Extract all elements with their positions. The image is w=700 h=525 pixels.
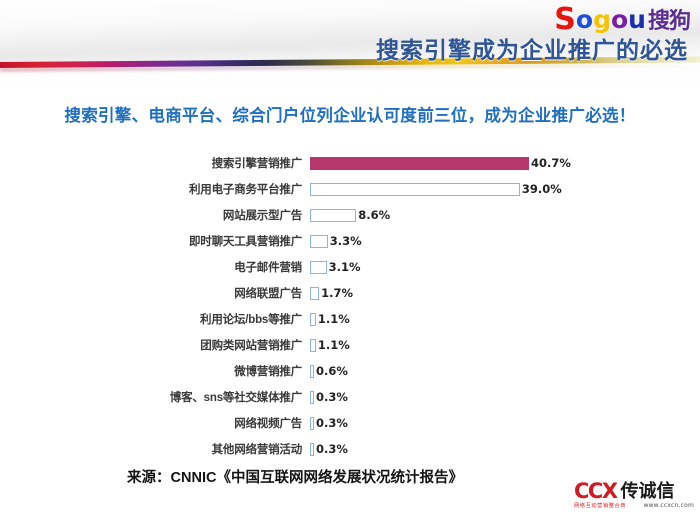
page-title: 搜索引擎成为企业推广的必选 bbox=[376, 31, 688, 65]
chart-category-label: 博客、sns等社交媒体推广 bbox=[0, 389, 310, 405]
ccx-logo-chinese: 传诚信 bbox=[621, 481, 675, 501]
ccx-logo-sub: 网络互动营销整合商 www.ccxcn.com bbox=[574, 502, 694, 509]
chart-value-label: 0.6% bbox=[316, 364, 348, 378]
chart-category-label: 网站展示型广告 bbox=[0, 207, 310, 223]
chart-row: 网络联盟广告1.7% bbox=[0, 280, 700, 306]
chart-bar-wrap: 0.3% bbox=[310, 410, 700, 436]
chart-value-label: 0.3% bbox=[316, 416, 348, 430]
chart-category-label: 网络联盟广告 bbox=[0, 285, 310, 301]
chart-bar-wrap: 3.1% bbox=[310, 254, 700, 280]
chart-value-label: 1.1% bbox=[318, 338, 350, 352]
chart-bar bbox=[310, 443, 314, 456]
sogou-letter-o2: o bbox=[611, 7, 628, 32]
ccx-logo: CCX 传诚信 网络互动营销整合商 www.ccxcn.com bbox=[574, 479, 694, 515]
chart-value-label: 0.3% bbox=[316, 390, 348, 404]
chart-category-label: 利用电子商务平台推广 bbox=[0, 181, 310, 197]
sogou-letter-g: g bbox=[593, 7, 611, 32]
slide-canvas: 搜索引擎成为企业推广的必选 Sogou搜狗 搜索引擎、电商平台、综合门户位列企业… bbox=[0, 0, 700, 525]
chart-bar-wrap: 40.7% bbox=[310, 150, 700, 176]
ccx-mark: CCX bbox=[574, 481, 617, 501]
chart-row: 微博营销推广0.6% bbox=[0, 358, 700, 384]
chart-row: 搜索引擎营销推广40.7% bbox=[0, 150, 700, 176]
chart-bar-wrap: 3.3% bbox=[310, 228, 700, 254]
chart-value-label: 3.3% bbox=[330, 234, 362, 248]
sogou-letter-u: u bbox=[628, 7, 646, 32]
chart-value-label: 39.0% bbox=[522, 182, 562, 196]
chart-category-label: 微博营销推广 bbox=[0, 363, 310, 379]
chart-category-label: 搜索引擎营销推广 bbox=[0, 155, 310, 171]
chart-category-label: 电子邮件营销 bbox=[0, 259, 310, 275]
ccx-url: www.ccxcn.com bbox=[643, 502, 694, 509]
slide-subtitle: 搜索引擎、电商平台、综合门户位列企业认可度前三位，成为企业推广必选！ bbox=[0, 102, 700, 126]
chart-bar bbox=[310, 261, 327, 274]
chart-bar bbox=[310, 183, 520, 196]
chart-category-label: 团购类网站营销推广 bbox=[0, 337, 310, 353]
chart-bar bbox=[310, 313, 316, 326]
chart-bar bbox=[310, 235, 328, 248]
chart-bar bbox=[310, 417, 314, 430]
chart-row: 电子邮件营销3.1% bbox=[0, 254, 700, 280]
chart-value-label: 1.1% bbox=[318, 312, 350, 326]
chart-category-label: 即时聊天工具营销推广 bbox=[0, 233, 310, 249]
chart-row: 网站展示型广告8.6% bbox=[0, 202, 700, 228]
chart-value-label: 3.1% bbox=[329, 260, 361, 274]
chart-bar-wrap: 0.6% bbox=[310, 358, 700, 384]
chart-bar-wrap: 1.7% bbox=[310, 280, 700, 306]
chart-bar-wrap: 39.0% bbox=[310, 176, 700, 202]
ccx-logo-row: CCX 传诚信 bbox=[574, 479, 694, 501]
chart-row: 博客、sns等社交媒体推广0.3% bbox=[0, 384, 700, 410]
sogou-letter-s: S bbox=[554, 5, 576, 35]
chart-category-label: 其他网络营销活动 bbox=[0, 441, 310, 457]
chart-bar bbox=[310, 157, 529, 170]
sogou-logo-chinese: 搜狗 bbox=[648, 11, 690, 33]
chart-bar-wrap: 8.6% bbox=[310, 202, 700, 228]
sogou-letter-o1: o bbox=[576, 7, 593, 32]
sogou-logo: Sogou搜狗 bbox=[554, 4, 690, 34]
chart-category-label: 利用论坛/bbs等推广 bbox=[0, 311, 310, 327]
horizontal-bar-chart: 搜索引擎营销推广40.7%利用电子商务平台推广39.0%网站展示型广告8.6%即… bbox=[0, 150, 700, 460]
chart-row: 其他网络营销活动0.3% bbox=[0, 436, 700, 462]
chart-bar bbox=[310, 287, 319, 300]
chart-bar-wrap: 0.3% bbox=[310, 384, 700, 410]
chart-row: 团购类网站营销推广1.1% bbox=[0, 332, 700, 358]
chart-value-label: 8.6% bbox=[358, 208, 390, 222]
chart-bar bbox=[310, 209, 356, 222]
chart-value-label: 0.3% bbox=[316, 442, 348, 456]
chart-bar-wrap: 1.1% bbox=[310, 306, 700, 332]
chart-value-label: 1.7% bbox=[321, 286, 353, 300]
chart-row: 利用论坛/bbs等推广1.1% bbox=[0, 306, 700, 332]
chart-bar-wrap: 0.3% bbox=[310, 436, 700, 462]
chart-bar bbox=[310, 339, 316, 352]
chart-bar-wrap: 1.1% bbox=[310, 332, 700, 358]
chart-bar bbox=[310, 391, 314, 404]
chart-category-label: 网络视频广告 bbox=[0, 415, 310, 431]
chart-row: 即时聊天工具营销推广3.3% bbox=[0, 228, 700, 254]
chart-row: 利用电子商务平台推广39.0% bbox=[0, 176, 700, 202]
chart-bar bbox=[310, 365, 314, 378]
chart-value-label: 40.7% bbox=[531, 156, 571, 170]
chart-row: 网络视频广告0.3% bbox=[0, 410, 700, 436]
ccx-tagline: 网络互动营销整合商 bbox=[574, 502, 626, 509]
